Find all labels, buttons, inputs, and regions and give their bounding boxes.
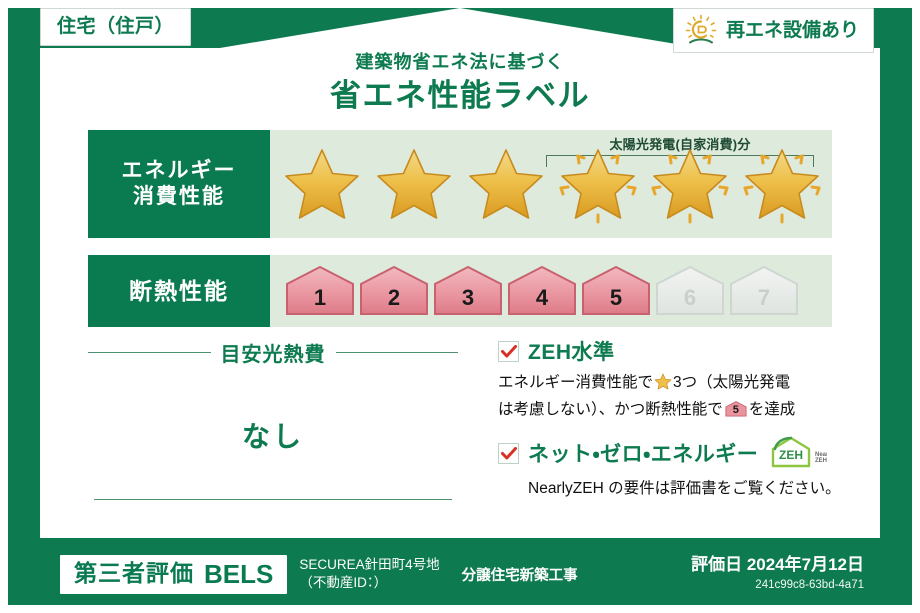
utility-cost-block: 目安光熱費 なし bbox=[88, 338, 458, 510]
label-subtitle: 建築物省エネ法に基づく bbox=[0, 52, 920, 74]
insulation-level-value: 4 bbox=[536, 287, 548, 318]
energy-star-rating bbox=[270, 144, 828, 224]
insulation-performance-row: 断熱性能 1 bbox=[88, 255, 832, 327]
zeh-standard-description: エネルギー消費性能で3つ（太陽光発電は考慮しない）、かつ断熱性能で5を達成 bbox=[498, 371, 848, 422]
insulation-level-value: 5 bbox=[610, 287, 622, 318]
zeh-logo: ZEH Nearly ZEH bbox=[769, 436, 827, 470]
star-item-solar bbox=[736, 144, 828, 224]
bels-badge-jp: 第三者評価 bbox=[74, 562, 194, 585]
zeh-netzero-title: ネット・ゼロ・エネルギー bbox=[528, 438, 758, 468]
check-icon bbox=[501, 345, 517, 358]
insulation-performance-body: 1 2 3 4 bbox=[270, 255, 832, 327]
energy-performance-row: エネルギー 消費性能 太陽光発電(自家消費)分 bbox=[88, 130, 832, 238]
insulation-level-badge-inactive: 6 bbox=[654, 264, 726, 318]
star-item-solar bbox=[552, 144, 644, 224]
zeh-block: ZEH水準 エネルギー消費性能で3つ（太陽光発電は考慮しない）、かつ断熱性能で5… bbox=[498, 336, 848, 500]
evaluation-id: 241c99c8-63bd-4a71 bbox=[691, 578, 864, 593]
badge-renewable-equipment: 再エネ設備あり bbox=[673, 8, 874, 53]
zeh-standard-title: ZEH水準 bbox=[528, 336, 615, 366]
utility-cost-bottom-rule bbox=[94, 499, 452, 501]
energy-performance-label: エネルギー 消費性能 bbox=[88, 130, 270, 238]
zeh-standard-row: ZEH水準 bbox=[498, 336, 848, 366]
insulation-level-badge: 3 bbox=[432, 264, 504, 318]
insulation-level-inline-value: 5 bbox=[725, 400, 747, 418]
badge-dwelling-label: 住宅（住戸） bbox=[57, 17, 174, 36]
heading-rule-left bbox=[88, 352, 211, 354]
star-item bbox=[276, 144, 368, 224]
star-item-solar bbox=[644, 144, 736, 224]
insulation-level-value: 1 bbox=[314, 287, 326, 318]
insulation-level-inline-badge: 5 bbox=[725, 400, 747, 418]
site-info: SECUREA針田町4号地 （不動産ID：） bbox=[299, 556, 439, 592]
svg-text:ZEH: ZEH bbox=[815, 458, 827, 464]
bels-badge: 第三者評価 BELS bbox=[60, 555, 287, 594]
evaluation-date: 評価日 2024年7月12日 bbox=[691, 555, 864, 575]
badge-dwelling-type: 住宅（住戸） bbox=[40, 8, 191, 46]
insulation-level-badge: 4 bbox=[506, 264, 578, 318]
insulation-level-value: 2 bbox=[388, 287, 400, 318]
site-name: SECUREA針田町4号地 bbox=[299, 556, 439, 574]
energy-performance-body: 太陽光発電(自家消費)分 bbox=[270, 130, 832, 238]
label-title-block: 建築物省エネ法に基づく 省エネ性能ラベル bbox=[0, 52, 920, 115]
bels-energy-label: 住宅（住戸） 再エネ設備あり bbox=[0, 0, 920, 613]
heading-rule-right bbox=[336, 352, 459, 354]
utility-cost-heading: 目安光熱費 bbox=[88, 338, 458, 367]
insulation-level-badge: 5 bbox=[580, 264, 652, 318]
insulation-performance-label: 断熱性能 bbox=[88, 255, 270, 327]
utility-cost-heading-text: 目安光熱費 bbox=[221, 338, 326, 367]
energy-performance-label-line1: エネルギー bbox=[122, 158, 237, 184]
insulation-performance-label-text: 断熱性能 bbox=[129, 277, 229, 306]
sun-icon bbox=[684, 14, 718, 46]
work-type: 分譲住宅新築工事 bbox=[462, 564, 578, 585]
insulation-level-badge-inactive: 7 bbox=[728, 264, 800, 318]
label-footer: 第三者評価 BELS SECUREA針田町4号地 （不動産ID：） 分譲住宅新築… bbox=[8, 543, 912, 605]
insulation-level-badge: 2 bbox=[358, 264, 430, 318]
badge-renewable-label: 再エネ設備あり bbox=[726, 21, 859, 40]
bels-badge-en: BELS bbox=[204, 561, 273, 587]
zeh-desc-part3: は考慮しない）、かつ断熱性能で bbox=[498, 401, 723, 418]
zeh-standard-checkbox[interactable] bbox=[498, 341, 519, 362]
zeh-netzero-description: NearlyZEH の要件は評価書をご覧ください。 bbox=[528, 477, 848, 500]
evaluation-info: 評価日 2024年7月12日 241c99c8-63bd-4a71 bbox=[691, 555, 864, 592]
zeh-netzero-row: ネット・ゼロ・エネルギー ZEH Nearly ZEH bbox=[498, 436, 848, 470]
insulation-level-value: 6 bbox=[684, 287, 696, 318]
label-main-title: 省エネ性能ラベル bbox=[0, 77, 920, 116]
insulation-level-badge: 1 bbox=[284, 264, 356, 318]
star-item bbox=[460, 144, 552, 224]
energy-performance-label-line2: 消費性能 bbox=[133, 184, 225, 210]
check-icon bbox=[501, 447, 517, 460]
insulation-level-value: 7 bbox=[758, 287, 770, 318]
insulation-level-value: 3 bbox=[462, 287, 474, 318]
zeh-desc-part1: エネルギー消費性能で bbox=[498, 374, 653, 391]
star-icon bbox=[654, 373, 672, 398]
property-id: （不動産ID：） bbox=[299, 574, 439, 592]
svg-text:ZEH: ZEH bbox=[779, 448, 803, 462]
zeh-desc-part4: を達成 bbox=[749, 401, 796, 418]
zeh-netzero-checkbox[interactable] bbox=[498, 443, 519, 464]
utility-cost-value: なし bbox=[88, 415, 458, 455]
zeh-desc-part2: 3つ（太陽光発電 bbox=[673, 374, 790, 391]
star-item bbox=[368, 144, 460, 224]
